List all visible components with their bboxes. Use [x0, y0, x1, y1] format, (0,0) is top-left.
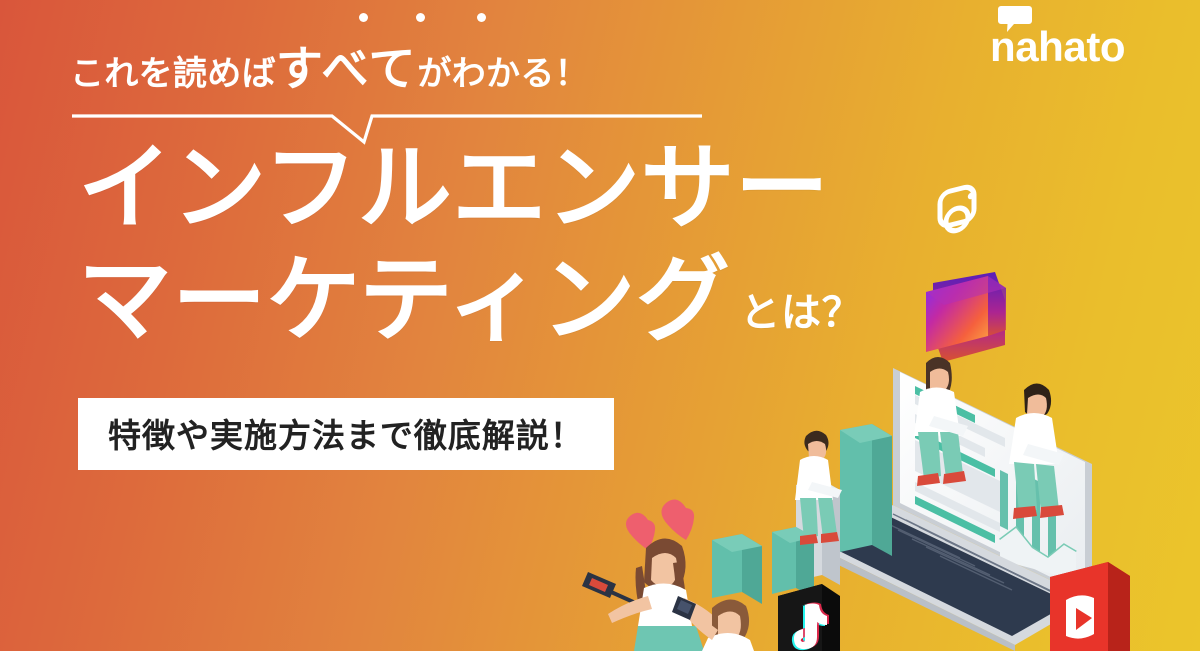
- logo-text: nahato: [990, 26, 1125, 68]
- kicker-lead: これを読めば: [70, 55, 276, 93]
- tiktok-icon: [778, 584, 840, 651]
- headline-line-1: インフルエンサー: [78, 140, 863, 236]
- headline-line-2-wrap: マーケティングとは？: [78, 252, 863, 348]
- logo[interactable]: nahato: [990, 6, 1160, 68]
- kicker-text: これを読めばすべてがわかる！: [70, 30, 589, 99]
- banner-root: これを読めばすべてがわかる！ インフルエンサー マーケティングとは？ 特徴や実施…: [0, 0, 1200, 651]
- kicker-tail: がわかる！: [417, 55, 589, 93]
- youtube-icon: [1050, 562, 1130, 651]
- kicker: これを読めばすべてがわかる！: [0, 8, 740, 128]
- person-woman-selfie: [582, 538, 718, 651]
- headline-suffix: とは？: [730, 291, 862, 335]
- page-title: インフルエンサー マーケティングとは？: [78, 140, 863, 348]
- kicker-emphasis: すべて: [276, 42, 417, 95]
- instagram-icon: [925, 185, 1006, 362]
- emphasis-dots: [357, 13, 507, 27]
- headline-line-2: マーケティング: [78, 247, 730, 352]
- subtitle-badge: 特徴や実施方法まで徹底解説！: [78, 398, 614, 470]
